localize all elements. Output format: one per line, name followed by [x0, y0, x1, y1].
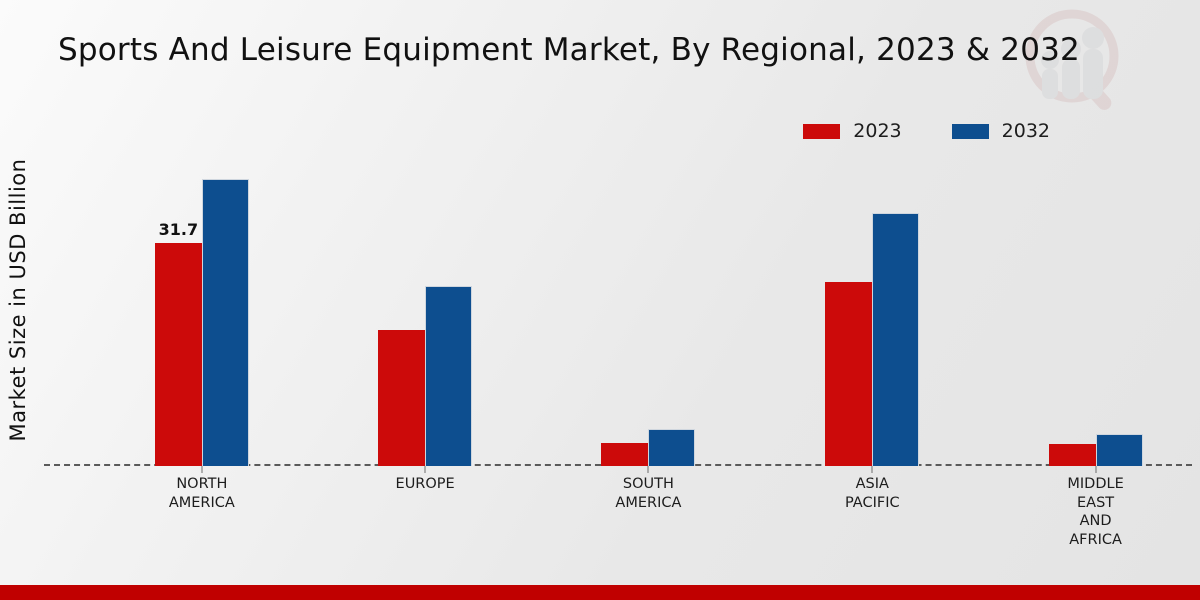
- x-axis-category-label: MIDDLE EAST AND AFRICA: [1026, 475, 1166, 549]
- bar-2023-3[interactable]: [601, 443, 648, 466]
- bar-2023-2[interactable]: [378, 330, 425, 466]
- bar-2032-2[interactable]: [425, 286, 472, 466]
- bar-2023-5[interactable]: [1049, 444, 1096, 466]
- legend-item-2023[interactable]: 2023: [803, 120, 901, 142]
- bar-2032-3[interactable]: [648, 429, 695, 466]
- legend-item-2032[interactable]: 2032: [952, 120, 1050, 142]
- bar-2032-5[interactable]: [1096, 434, 1143, 466]
- chart-title: Sports And Leisure Equipment Market, By …: [58, 32, 1080, 68]
- bar-2032-1[interactable]: [202, 179, 249, 466]
- footer-bar: [0, 585, 1200, 600]
- bar-2023-4[interactable]: [825, 282, 872, 466]
- y-axis-title-text: Market Size in USD Billion: [6, 159, 30, 442]
- plot-area: 31.7NORTH AMERICAEUROPESOUTH AMERICAASIA…: [44, 150, 1192, 466]
- x-axis-tick: [425, 466, 426, 473]
- legend-swatch-2023: [803, 124, 840, 139]
- legend-label-2023: 2023: [853, 120, 901, 142]
- x-axis-tick: [1095, 466, 1096, 473]
- y-axis-title: Market Size in USD Billion: [0, 159, 38, 442]
- bar-group: ASIA PACIFIC: [824, 213, 920, 466]
- x-axis-category-label: EUROPE: [355, 475, 495, 494]
- x-axis-category-label: ASIA PACIFIC: [802, 475, 942, 512]
- x-axis-tick: [201, 466, 202, 473]
- bar-2023-1[interactable]: 31.7: [155, 243, 202, 466]
- x-axis-category-label: SOUTH AMERICA: [578, 475, 718, 512]
- bar-group: 31.7NORTH AMERICA: [154, 179, 250, 466]
- bar-group: MIDDLE EAST AND AFRICA: [1048, 434, 1144, 466]
- x-axis-category-label: NORTH AMERICA: [132, 475, 272, 512]
- legend-swatch-2032: [952, 124, 989, 139]
- bar-group: SOUTH AMERICA: [600, 429, 696, 466]
- bar-group: EUROPE: [377, 286, 473, 466]
- bar-2032-4[interactable]: [872, 213, 919, 466]
- x-axis-tick: [648, 466, 649, 473]
- bar-value-label: 31.7: [159, 220, 198, 239]
- legend-label-2032: 2032: [1002, 120, 1050, 142]
- chart-legend: 2023 2032: [803, 120, 1050, 142]
- x-axis-tick: [872, 466, 873, 473]
